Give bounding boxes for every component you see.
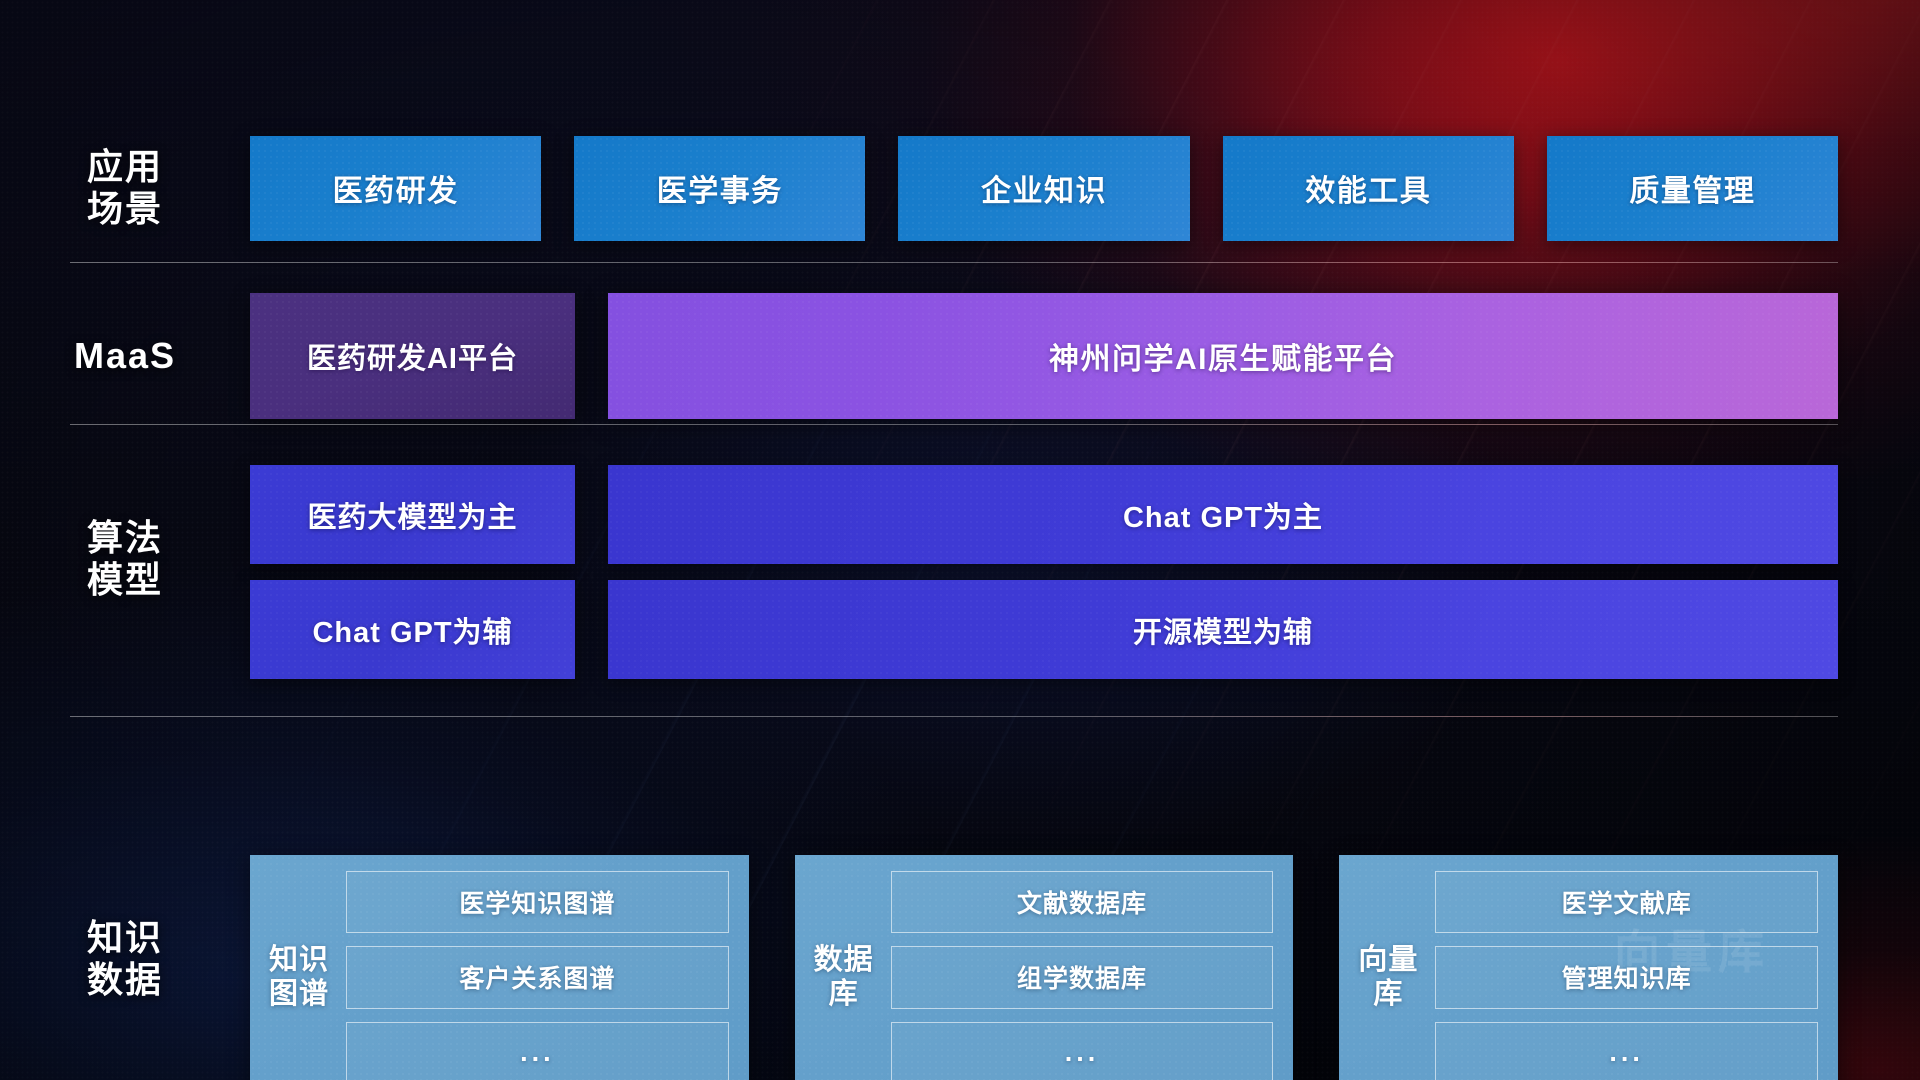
tier-label-algorithm-model: 算法 模型 — [0, 425, 250, 601]
app-card-label: 效能工具 — [1305, 166, 1431, 210]
divider-algorithm-knowledge — [70, 716, 1838, 717]
maas-card-shenzhou-wenxue-platform[interactable]: 神州问学AI原生赋能平台 — [608, 293, 1838, 419]
algorithm-card-pharma-llm-primary[interactable]: 医药大模型为主 — [250, 465, 575, 564]
algorithm-row-secondary: Chat GPT为辅 开源模型为辅 — [250, 580, 1838, 679]
app-card-medical-affairs[interactable]: 医学事务 — [574, 136, 865, 241]
maas-bar-list: 医药研发AI平台 神州问学AI原生赋能平台 — [250, 293, 1920, 419]
maas-card-label: 医药研发AI平台 — [307, 335, 518, 377]
tier-knowledge-data: 知识 数据 知识图谱 医学知识图谱 客户关系图谱 ... 数据库 — [0, 855, 1920, 1080]
algorithm-card-chatgpt-primary[interactable]: Chat GPT为主 — [608, 465, 1838, 564]
algorithm-card-label: 医药大模型为主 — [307, 494, 517, 536]
knowledge-item[interactable]: 文献数据库 — [891, 871, 1274, 933]
divider-application-maas — [70, 262, 1838, 263]
diagram-canvas: 应用 场景 医药研发 医学事务 企业知识 效能工具 — [0, 0, 1920, 1080]
app-card-label: 医药研发 — [333, 166, 459, 210]
algorithm-bar-list: 医药大模型为主 Chat GPT为主 Chat GPT为辅 开源模型为辅 — [250, 425, 1920, 679]
knowledge-item[interactable]: 管理知识库 — [1435, 946, 1818, 1008]
application-card-list: 医药研发 医学事务 企业知识 效能工具 质量管理 — [250, 136, 1920, 241]
knowledge-item[interactable]: 医学文献库 — [1435, 871, 1818, 933]
knowledge-group-title: 数据库 — [809, 871, 879, 1080]
knowledge-item[interactable]: 组学数据库 — [891, 946, 1274, 1008]
algorithm-card-opensource-secondary[interactable]: 开源模型为辅 — [608, 580, 1838, 679]
knowledge-item-more[interactable]: ... — [1435, 1022, 1818, 1080]
knowledge-item[interactable]: 医学知识图谱 — [346, 871, 729, 933]
tier-label-maas: MaaS — [0, 335, 250, 377]
algorithm-row-primary: 医药大模型为主 Chat GPT为主 — [250, 465, 1838, 564]
app-card-enterprise-knowledge[interactable]: 企业知识 — [898, 136, 1189, 241]
app-card-label: 企业知识 — [981, 166, 1107, 210]
app-card-label: 医学事务 — [657, 166, 783, 210]
knowledge-group-vector-store[interactable]: 向量库 医学文献库 管理知识库 ... — [1339, 855, 1838, 1080]
algorithm-card-chatgpt-secondary[interactable]: Chat GPT为辅 — [250, 580, 575, 679]
app-card-label: 质量管理 — [1629, 166, 1755, 210]
tier-application-scenarios: 应用 场景 医药研发 医学事务 企业知识 效能工具 — [0, 128, 1920, 248]
divider-maas-algorithm — [70, 424, 1838, 425]
app-card-efficiency-tools[interactable]: 效能工具 — [1223, 136, 1514, 241]
app-card-drug-rd[interactable]: 医药研发 — [250, 136, 541, 241]
algorithm-card-label: Chat GPT为辅 — [312, 609, 512, 651]
maas-card-label: 神州问学AI原生赋能平台 — [1049, 334, 1397, 378]
knowledge-item-more[interactable]: ... — [891, 1022, 1274, 1080]
knowledge-group-knowledge-graph[interactable]: 知识图谱 医学知识图谱 客户关系图谱 ... — [250, 855, 749, 1080]
tier-label-knowledge-data: 知识 数据 — [0, 855, 250, 1001]
knowledge-item[interactable]: 客户关系图谱 — [346, 946, 729, 1008]
knowledge-group-list: 知识图谱 医学知识图谱 客户关系图谱 ... 数据库 文献数据库 组学数据库 .… — [250, 855, 1920, 1080]
tier-maas: MaaS 医药研发AI平台 神州问学AI原生赋能平台 — [0, 292, 1920, 420]
tier-label-application-scenarios: 应用 场景 — [0, 146, 250, 230]
knowledge-item-more[interactable]: ... — [346, 1022, 729, 1080]
maas-card-drug-rd-platform[interactable]: 医药研发AI平台 — [250, 293, 575, 419]
knowledge-group-title: 向量库 — [1353, 871, 1423, 1080]
algorithm-card-label: 开源模型为辅 — [1133, 609, 1313, 651]
knowledge-group-database[interactable]: 数据库 文献数据库 组学数据库 ... — [795, 855, 1294, 1080]
knowledge-group-title: 知识图谱 — [264, 871, 334, 1080]
tier-algorithm-model: 算法 模型 医药大模型为主 Chat GPT为主 Chat GPT为辅 — [0, 425, 1920, 715]
app-card-quality-management[interactable]: 质量管理 — [1547, 136, 1838, 241]
algorithm-card-label: Chat GPT为主 — [1123, 494, 1323, 536]
